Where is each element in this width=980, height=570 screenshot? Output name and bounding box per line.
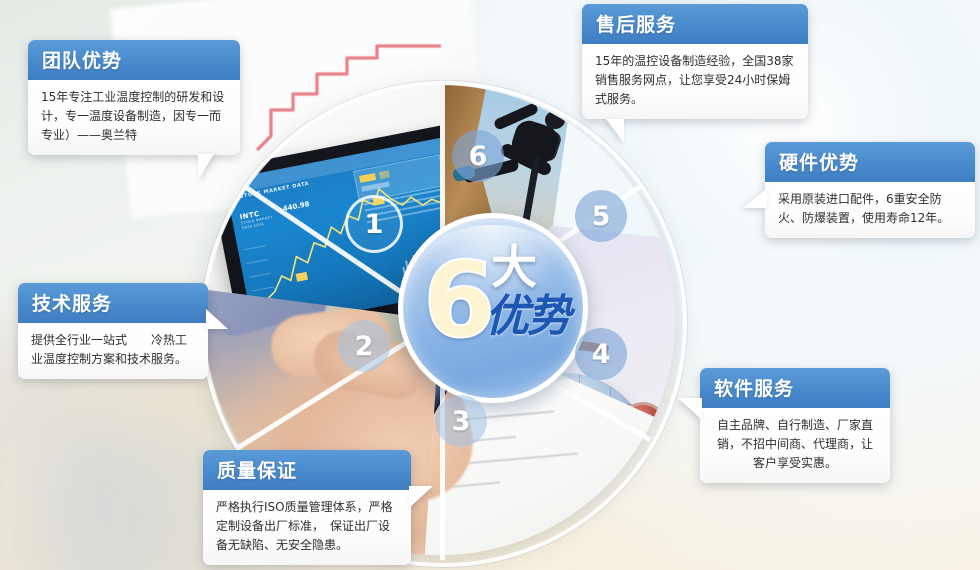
- callout-quality-tail: [409, 486, 433, 508]
- segment-number-3[interactable]: 3: [435, 395, 487, 447]
- callout-hardware-title: 硬件优势: [765, 142, 975, 182]
- callout-technical-body: 提供全行业一站式 冷热工业温度控制方案和技术服务。: [18, 323, 208, 379]
- callout-quality-title: 质量保证: [203, 450, 411, 490]
- callout-after-sales-tail: [606, 119, 624, 143]
- callout-team-body: 15年专注工业温度控制的研发和设计，专一温度设备制造，因专一而专业）——奥兰特: [28, 80, 240, 155]
- segment-number-1[interactable]: 1: [345, 195, 403, 253]
- callout-quality-assurance[interactable]: 质量保证 严格执行ISO质量管理体系，严格定制设备出厂标准， 保证出厂设备无缺陷…: [203, 450, 411, 565]
- center-badge: 6 大 优势: [398, 213, 588, 403]
- callout-technical-tail: [206, 309, 228, 329]
- callout-team-title: 团队优势: [28, 40, 240, 80]
- callout-software-service[interactable]: 软件服务 自主品牌、自行制造、厂家直销，不招中间商、代理商，让客户享受实惠。: [700, 368, 890, 483]
- callout-after-sales-title: 售后服务: [582, 4, 808, 44]
- center-big-char: 大: [491, 244, 537, 290]
- callout-software-body: 自主品牌、自行制造、厂家直销，不招中间商、代理商，让客户享受实惠。: [700, 408, 890, 483]
- callout-team-tail: [198, 154, 214, 180]
- callout-team-advantage[interactable]: 团队优势 15年专注工业温度控制的研发和设计，专一温度设备制造，因专一而专业）—…: [28, 40, 240, 155]
- segment-number-6[interactable]: 6: [452, 130, 504, 182]
- callout-software-tail: [678, 398, 702, 420]
- segment-number-5[interactable]: 5: [575, 190, 627, 242]
- center-script-text: 优势: [485, 294, 569, 340]
- callout-hardware-tail: [743, 188, 767, 208]
- callout-hardware-advantage[interactable]: 硬件优势 采用原装进口配件，6重安全防火、防爆装置，使用寿命12年。: [765, 142, 975, 238]
- callout-hardware-body: 采用原装进口配件，6重安全防火、防爆装置，使用寿命12年。: [765, 182, 975, 238]
- callout-quality-body: 严格执行ISO质量管理体系，严格定制设备出厂标准， 保证出厂设备无缺陷、无安全隐…: [203, 490, 411, 565]
- segment-number-2[interactable]: 2: [338, 320, 390, 372]
- callout-software-title: 软件服务: [700, 368, 890, 408]
- callout-after-sales-body: 15年的温控设备制造经验，全国38家销售服务网点，让您享受24小时保姆式服务。: [582, 44, 808, 119]
- infographic-canvas: STOCK MARKET DATA INTC STOCK MARKET DATA…: [0, 0, 980, 570]
- segment-number-4[interactable]: 4: [575, 328, 627, 380]
- callout-technical-service[interactable]: 技术服务 提供全行业一站式 冷热工业温度控制方案和技术服务。: [18, 283, 208, 379]
- callout-technical-title: 技术服务: [18, 283, 208, 323]
- callout-after-sales[interactable]: 售后服务 15年的温控设备制造经验，全国38家销售服务网点，让您享受24小时保姆…: [582, 4, 808, 119]
